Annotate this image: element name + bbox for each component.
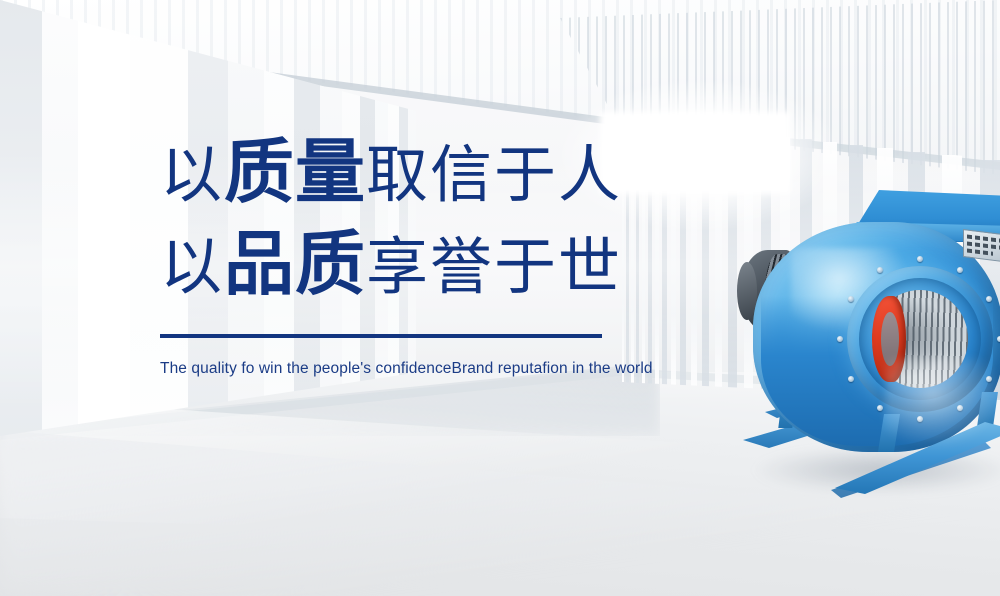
fan-flange-bolt-10 xyxy=(848,296,854,302)
headline-2-emphasis: 品质 xyxy=(224,225,366,303)
fan-flange-bolt-9 xyxy=(837,336,843,342)
headline-line-2: 以品质享誉于世 xyxy=(160,220,680,312)
headline-divider xyxy=(160,334,602,338)
headline-1-emphasis: 质量 xyxy=(224,133,366,211)
fan-gloss-highlight xyxy=(885,358,1000,448)
headline-1-suffix: 取信于人 xyxy=(366,141,622,210)
headline-1-prefix: 以 xyxy=(160,141,224,210)
headline-2-prefix: 以 xyxy=(160,233,224,302)
fan-flange-bolt-8 xyxy=(848,376,854,382)
centrifugal-blower-fan xyxy=(735,178,1000,518)
headline-block: 以质量取信于人 以品质享誉于世 The quality fo win the p… xyxy=(160,128,680,378)
fan-flange-bolt-1 xyxy=(957,267,963,273)
promo-banner: 以质量取信于人 以品质享誉于世 The quality fo win the p… xyxy=(0,0,1000,596)
headline-line-1: 以质量取信于人 xyxy=(160,128,680,220)
fan-flange-bolt-0 xyxy=(917,256,923,262)
fan-flange-bolt-11 xyxy=(877,267,883,273)
subtitle-text: The quality fo win the people's confiden… xyxy=(160,360,680,378)
nameplate-line-3 xyxy=(967,249,993,256)
headline-2-suffix: 享誉于世 xyxy=(366,233,622,302)
